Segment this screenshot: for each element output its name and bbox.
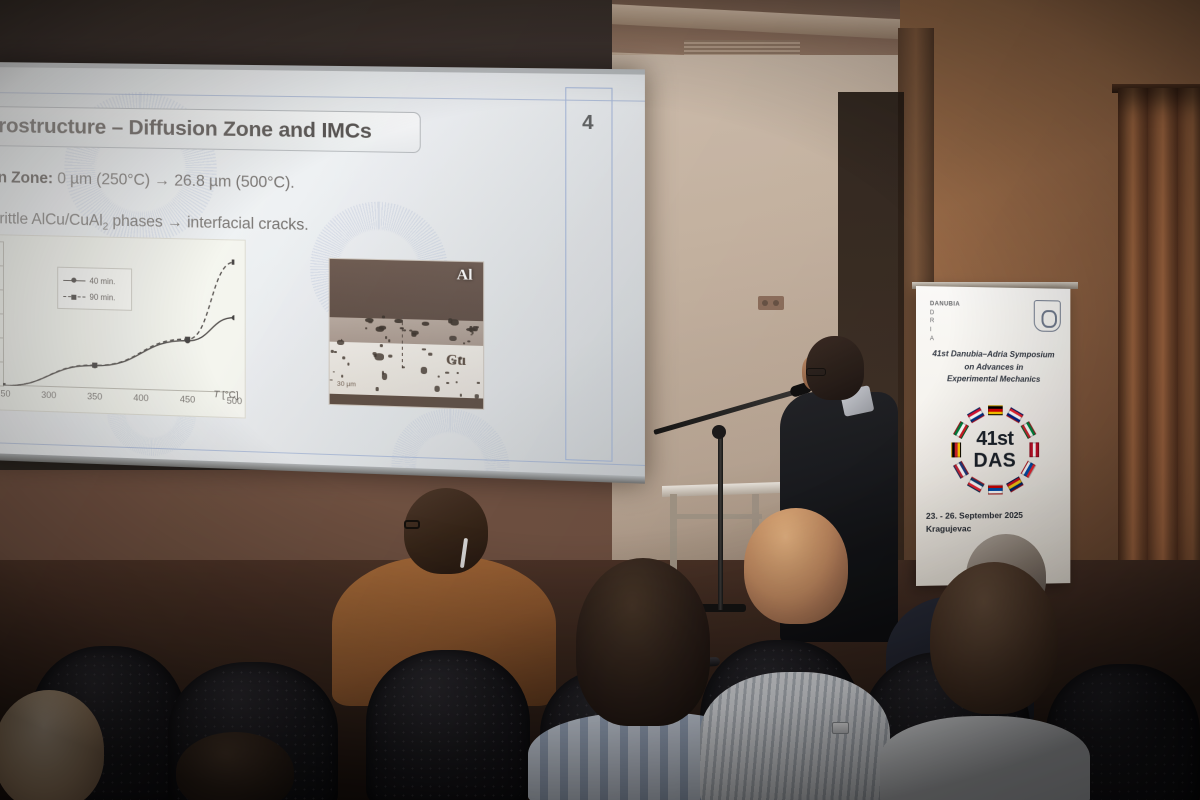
micrograph-particle: [342, 356, 345, 359]
legend-entry-90min: 90 min.: [63, 291, 131, 302]
micrograph-particle: [375, 387, 378, 390]
country-flag-icon: [966, 476, 984, 492]
country-flag-icon: [1006, 408, 1023, 424]
slide-bullet-diffusion-zone: ffusion Zone: 0 µm (250°C) → 26.8 µm (50…: [0, 168, 295, 192]
chart-y-tick-mark: [0, 265, 4, 266]
chart-marker-1: [232, 259, 235, 264]
chart-plot-area: 40 min. 90 min. 051015202530250300350400…: [3, 241, 234, 392]
slide-sidebar-column: [565, 87, 612, 462]
micrograph-particle: [388, 339, 390, 342]
chart-x-tick-label: 450: [180, 394, 195, 405]
micrograph-particle: [467, 328, 476, 332]
audience-head: [404, 488, 488, 574]
slide-rule-top: [0, 92, 645, 102]
micrograph-particle: [379, 325, 386, 329]
bullet-label: ffusion Zone:: [0, 168, 53, 187]
micrograph-label-al: Al: [457, 267, 473, 285]
emblem-line-das: DAS: [944, 450, 1046, 473]
slide-title: crostructure – Diffusion Zone and IMCs: [0, 114, 372, 144]
micrograph-particle: [394, 319, 403, 323]
chart-y-tick-mark: [0, 361, 4, 362]
legend-marker-square: [71, 294, 76, 299]
microphone-boom-clamp: [712, 425, 726, 439]
micrograph-particle: [365, 327, 367, 329]
chart-series-svg: [3, 241, 234, 392]
micrograph-particle: [477, 382, 480, 384]
micrograph-particle: [428, 353, 432, 356]
micrograph-particle: [400, 327, 403, 329]
bullet-text-post: phases → interfacial cracks.: [108, 212, 308, 233]
slide-page-number: 4: [570, 112, 607, 135]
micrograph-particle: [365, 318, 373, 322]
chart-y-tick-mark: [0, 337, 4, 338]
micrograph-particle: [457, 372, 459, 374]
micrograph-particle: [331, 350, 334, 354]
chart-y-tick-mark: [0, 289, 4, 290]
legend-label: 40 min.: [90, 276, 116, 286]
chart-x-symbol: T: [213, 389, 219, 400]
chart-y-tick-mark: [0, 313, 4, 314]
university-seal-icon: [1034, 300, 1061, 332]
country-flag-icon: [966, 407, 984, 423]
slide-bullet-imcs: ICs: Brittle AlCu/CuAl2 phases → interfa…: [0, 209, 309, 237]
chair-back: [366, 650, 530, 800]
projection-screen: 4 crostructure – Diffusion Zone and IMCs…: [0, 62, 645, 484]
bullet-text: 0 µm (250°C) → 26.8 µm (500°C).: [53, 170, 295, 192]
chart-x-unit: [°C]: [222, 389, 238, 401]
logo-wordmark: DANUBIA: [930, 300, 960, 309]
micrograph-particle: [375, 353, 384, 360]
emblem-line-41st: 41st: [944, 428, 1046, 451]
chart-y-tick-mark: [0, 385, 4, 386]
conference-room-photo: 4 crostructure – Diffusion Zone and IMCs…: [0, 0, 1200, 800]
chart-x-tick-label: 250: [0, 388, 11, 398]
banner-date: 23. - 26. September 2025: [926, 509, 1023, 523]
audience-glasses-icon: [404, 520, 420, 529]
speaker-glasses-icon: [806, 368, 826, 376]
logo-letter-i: I: [930, 326, 960, 335]
chart-y-tick-mark: [0, 241, 4, 242]
logo-letter-a: A: [930, 335, 960, 344]
danubia-adria-logo: DANUBIA D R I A: [930, 300, 960, 344]
micrograph-particle: [341, 375, 344, 378]
chart-x-axis-label: T [°C]: [213, 389, 238, 401]
chart-x-tick-label: 400: [133, 393, 148, 404]
banner-title-line-3: Experimental Mechanics: [922, 373, 1065, 387]
bullet-text-pre: Brittle AlCu/CuAl: [0, 210, 103, 230]
air-vent-grille: [684, 40, 800, 56]
chart-marker-0: [232, 315, 235, 320]
audience-shoulders-white-shirt: [880, 716, 1090, 800]
banner-title: 41st Danubia–Adria Symposium on Advances…: [922, 348, 1065, 387]
country-flag-icon: [1006, 476, 1023, 492]
diffusion-zone-chart: 40 min. 90 min. 051015202530250300350400…: [0, 234, 246, 419]
logo-letter-r: R: [930, 318, 960, 327]
micrograph-particle: [459, 356, 462, 359]
audience-shoulders-striped-shirt: [700, 672, 890, 800]
lectern-crossbar: [670, 514, 762, 519]
legend-line-solid: [63, 279, 85, 281]
micrograph-particle: [434, 386, 440, 392]
flag-ring-emblem: 41st DAS: [944, 398, 1046, 502]
audience-name-badge: [832, 722, 849, 734]
audience-head-curly: [576, 558, 710, 726]
chart-marker-1: [185, 337, 190, 342]
micrograph-particle: [445, 371, 449, 373]
banner-date-block: 23. - 26. September 2025 Kragujevac: [926, 509, 1023, 535]
legend-label: 90 min.: [90, 292, 116, 302]
micrograph-particle: [448, 318, 453, 323]
audience-head: [930, 562, 1058, 714]
micrograph-measure-line: [401, 316, 402, 368]
chart-legend: 40 min. 90 min.: [57, 267, 132, 311]
chart-x-tick-label: 300: [41, 390, 56, 401]
micrograph-particle: [347, 363, 349, 366]
chart-x-tick-label: 350: [87, 391, 102, 402]
audience-head-bald: [744, 508, 848, 624]
legend-entry-40min: 40 min.: [63, 275, 131, 286]
banner-title-line-1: 41st Danubia–Adria Symposium: [922, 348, 1065, 362]
micrograph-particle: [388, 355, 392, 358]
micrograph-image: Al Cu 30 µm: [329, 258, 485, 410]
micrograph-particle: [420, 367, 427, 373]
micrograph-scale-text: 30 µm: [337, 381, 356, 389]
country-flag-icon: [988, 484, 1003, 494]
microphone-stand-pole: [718, 430, 723, 610]
legend-marker-circle: [71, 278, 76, 283]
banner-title-line-2: on Advances in: [922, 361, 1065, 375]
wall-power-socket: [758, 296, 784, 310]
chart-marker-1: [92, 363, 97, 368]
micrograph-particle: [380, 344, 383, 348]
legend-line-dashed: [63, 295, 85, 297]
micrograph-particle: [449, 336, 456, 341]
micrograph-particle: [475, 394, 479, 397]
micrograph-particle: [403, 329, 406, 331]
country-flag-icon: [988, 405, 1003, 415]
slide-title-box: crostructure – Diffusion Zone and IMCs: [0, 106, 421, 154]
